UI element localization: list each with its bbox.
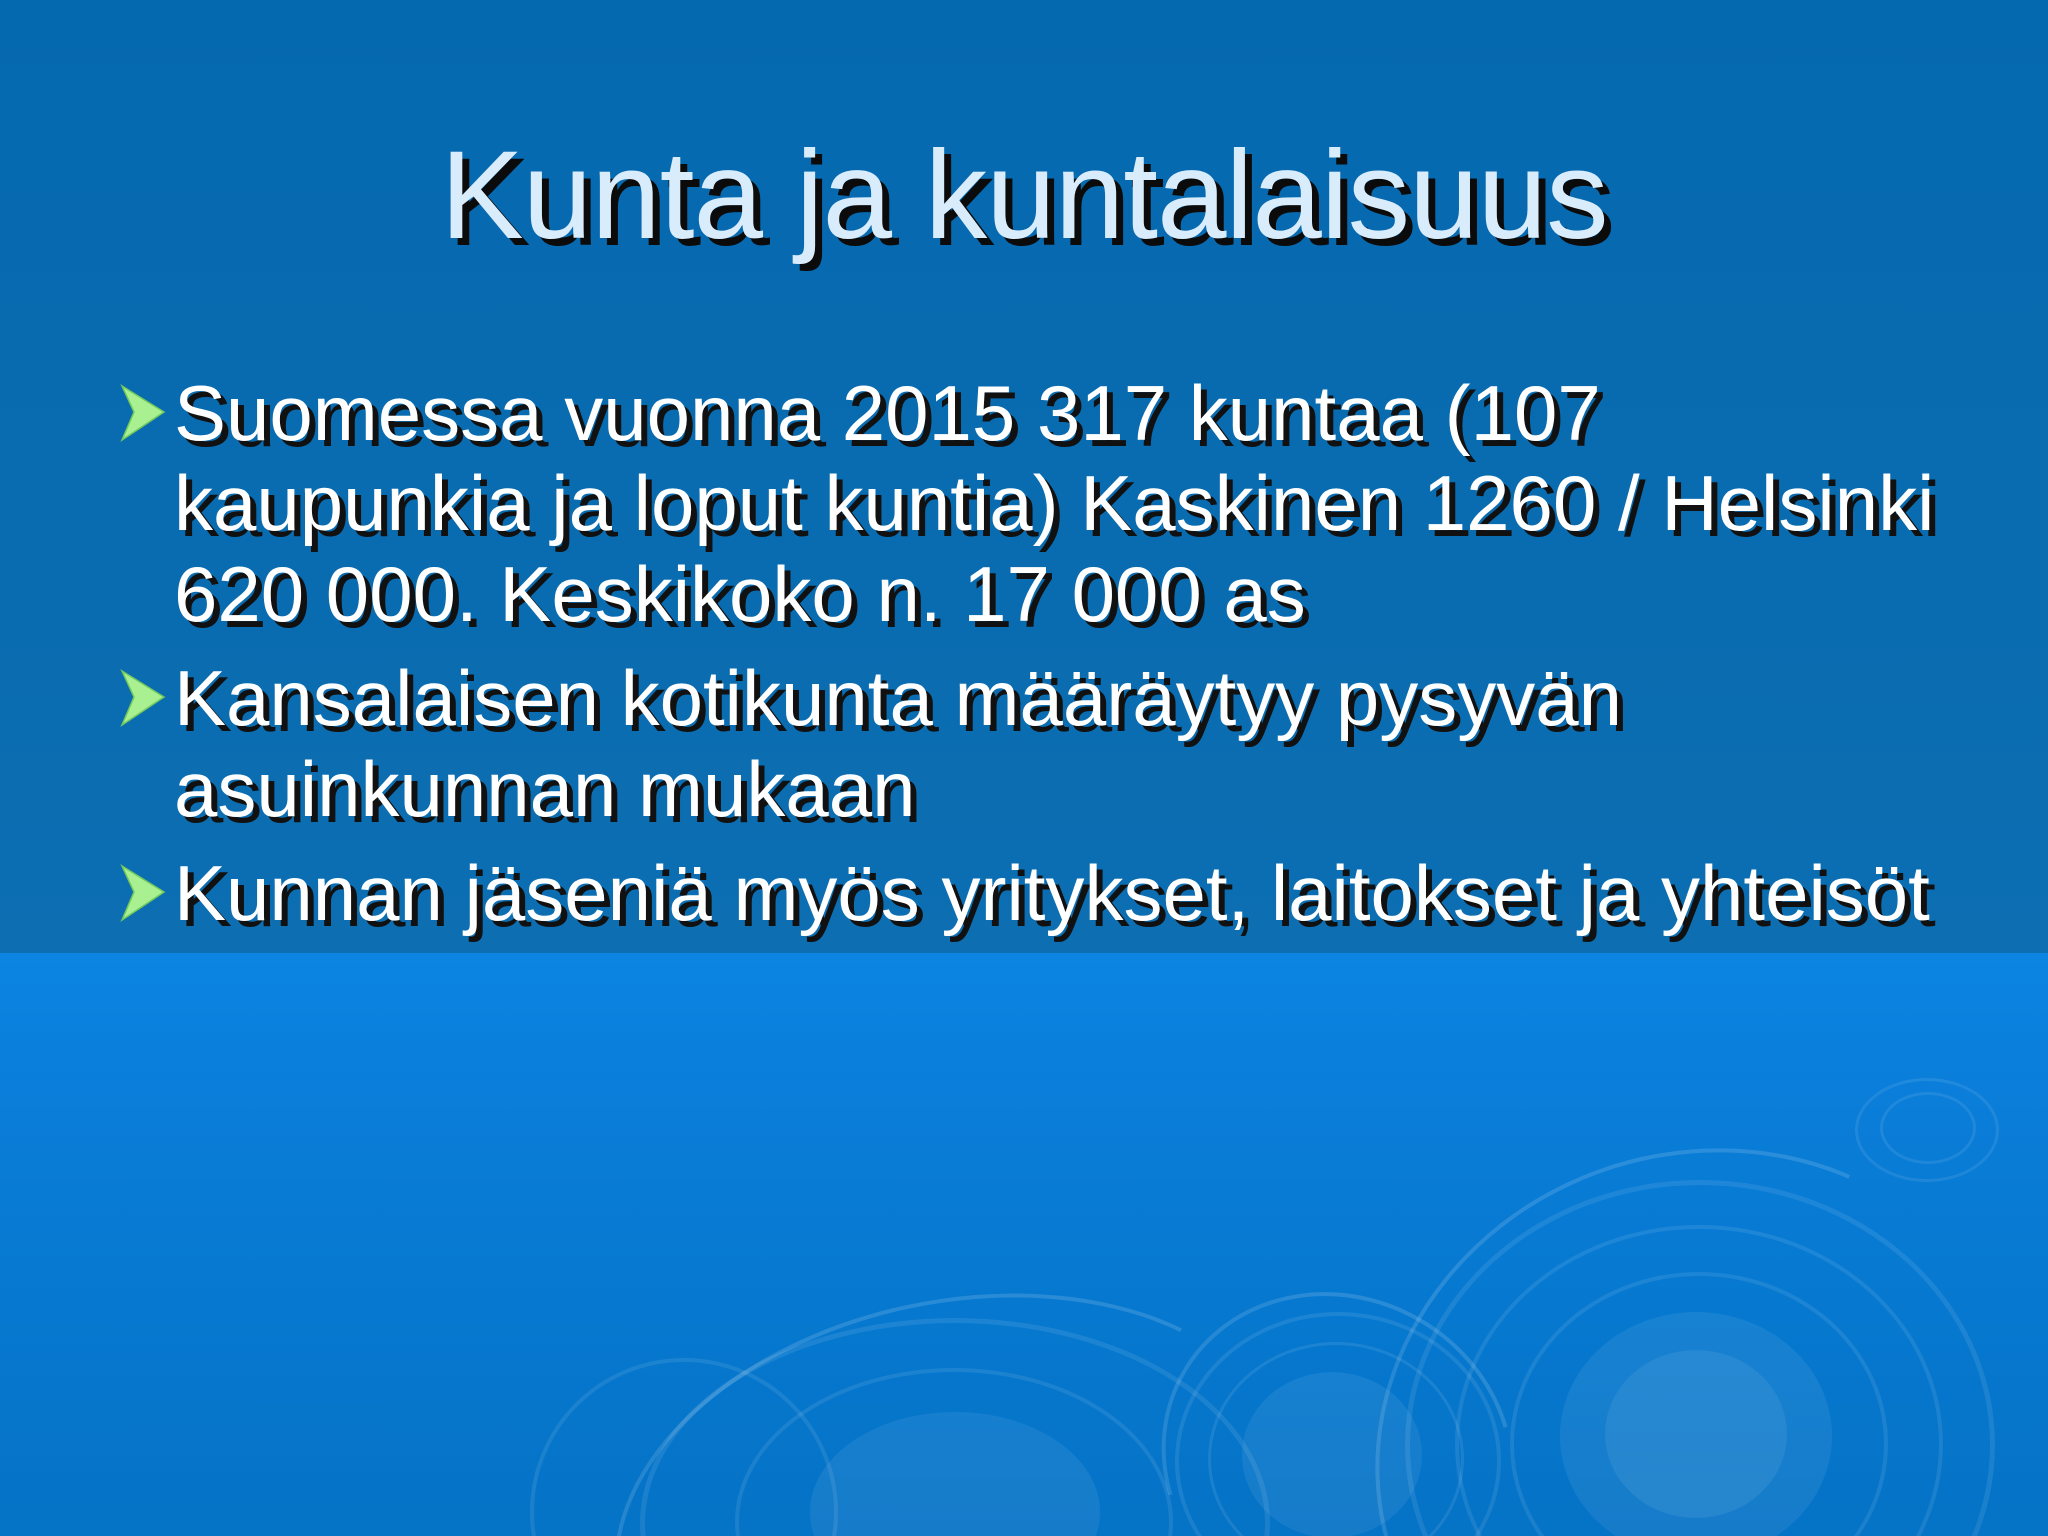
slide-background-lower <box>0 953 2048 1536</box>
bullet-text: Suomessa vuonna 2015 317 kuntaa (107 kau… <box>174 369 1934 638</box>
arrow-bullet-icon <box>116 667 170 729</box>
arrow-bullet-icon <box>116 862 170 924</box>
bullet-item: Suomessa vuonna 2015 317 kuntaa (107 kau… <box>112 368 1952 639</box>
bullet-text: Kansalaisen kotikunta määräytyy pysyvän … <box>174 654 1622 832</box>
bullet-text: Kunnan jäseniä myös yritykset, laitokset… <box>174 849 1930 937</box>
arrow-bullet-icon <box>116 382 170 444</box>
slide-body: Suomessa vuonna 2015 317 kuntaa (107 kau… <box>112 368 1952 939</box>
bullet-item: Kunnan jäseniä myös yritykset, laitokset… <box>112 848 1952 938</box>
slide-title: Kunta ja kuntalaisuus <box>0 128 2048 263</box>
presentation-slide: Kunta ja kuntalaisuus Suomessa vuonna 20… <box>0 0 2048 1536</box>
bullet-item: Kansalaisen kotikunta määräytyy pysyvän … <box>112 653 1952 834</box>
